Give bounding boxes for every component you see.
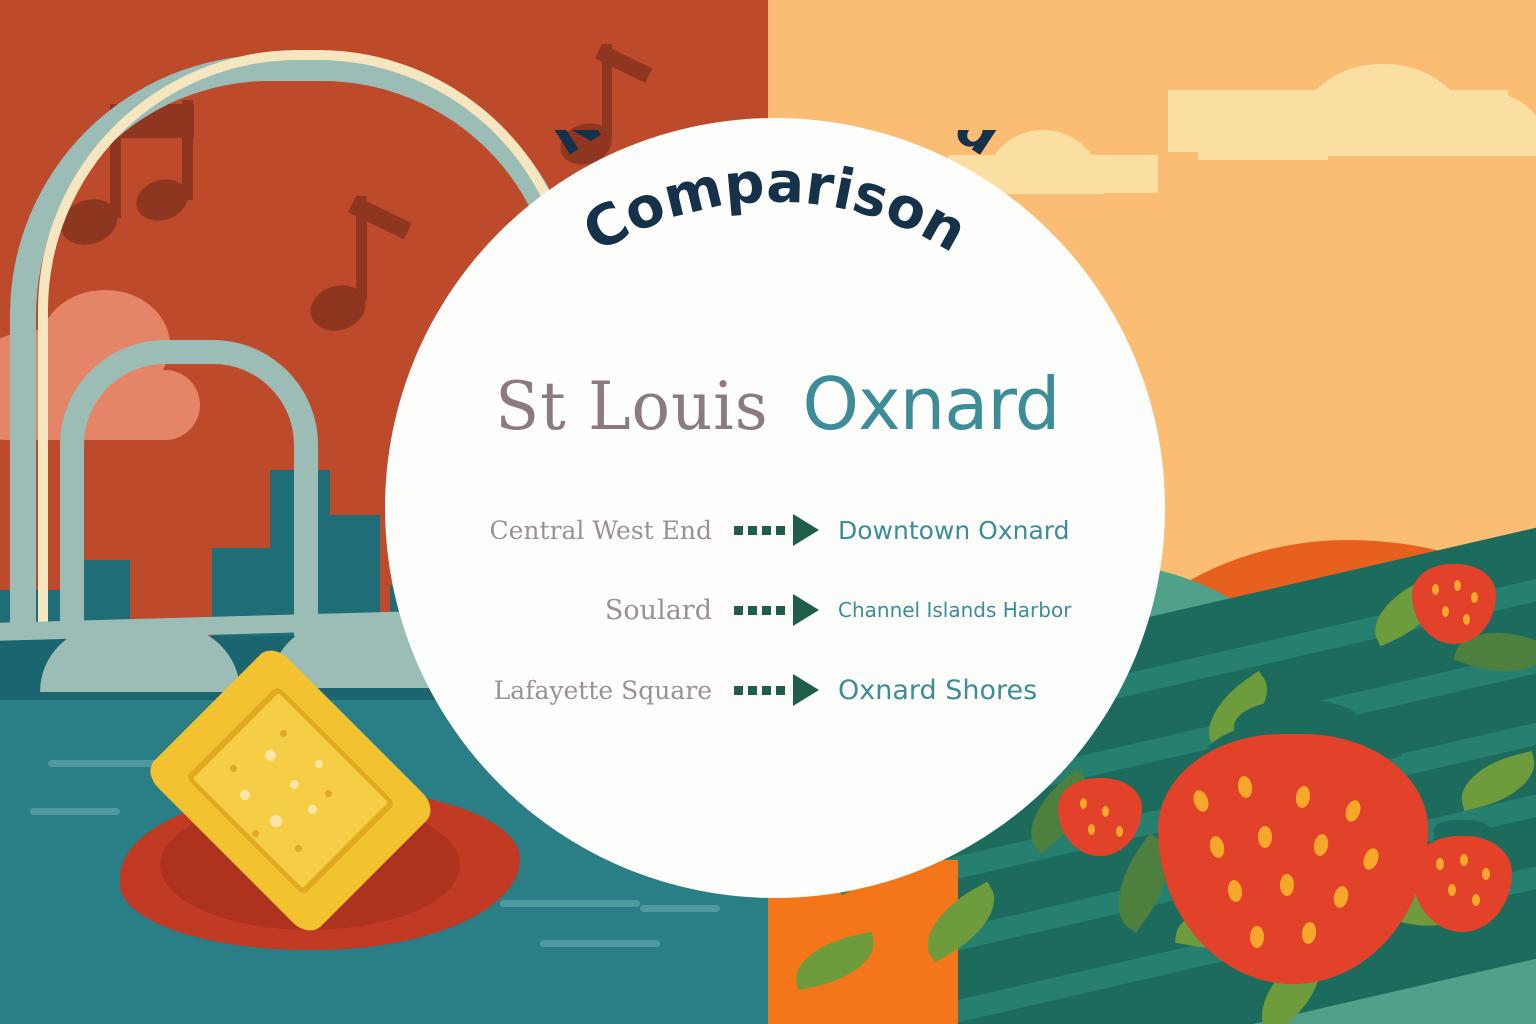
- neighborhood-left: Soulard: [382, 595, 730, 626]
- seed: [1471, 592, 1478, 603]
- page-title: Neighborhood Comparison: [385, 130, 1165, 380]
- seed: [1448, 884, 1456, 896]
- neighborhood-right: Oxnard Shores: [822, 675, 1168, 706]
- comparison-row: Lafayette Square Oxnard Shores: [385, 650, 1165, 730]
- crumb: [240, 790, 250, 800]
- title-line-2: Comparison: [573, 150, 978, 265]
- crumb: [295, 845, 302, 852]
- strawberry: [1408, 550, 1498, 650]
- strawberry-body: [1412, 564, 1496, 644]
- crumb: [270, 815, 282, 827]
- crumb: [280, 730, 287, 737]
- dotted-arrow-right-icon: [730, 594, 822, 626]
- wave-line: [540, 940, 660, 947]
- seed: [1472, 894, 1480, 906]
- comparison-graphic: Neighborhood Comparison St Louis Oxnard …: [0, 0, 1536, 1024]
- neighborhood-right: Channel Islands Harbor: [822, 598, 1168, 622]
- seed: [1116, 826, 1123, 837]
- strawberry-large: [1148, 700, 1448, 1020]
- seed: [1442, 606, 1449, 617]
- seed: [1432, 584, 1439, 595]
- city-name-right: Oxnard: [802, 362, 1059, 446]
- crumb: [290, 780, 299, 789]
- seed: [1102, 806, 1109, 817]
- wave-line: [30, 808, 120, 815]
- crumb: [265, 750, 276, 761]
- dotted-arrow-right-icon: [730, 514, 822, 546]
- seed: [1454, 580, 1461, 591]
- crumb: [308, 805, 317, 814]
- seed: [1460, 854, 1468, 866]
- neighborhood-right: Downtown Oxnard: [822, 516, 1168, 545]
- comparison-row: Central West End Downtown Oxnard: [385, 490, 1165, 570]
- neighborhood-left: Central West End: [382, 516, 730, 545]
- wave-line: [500, 900, 640, 907]
- seed: [1280, 874, 1294, 896]
- seed: [1258, 826, 1272, 848]
- comparison-row: Soulard Channel Islands Harbor: [385, 570, 1165, 650]
- seed: [1250, 926, 1264, 948]
- seed: [1463, 614, 1470, 625]
- dotted-arrow-right-icon: [730, 674, 822, 706]
- neighborhood-left: Lafayette Square: [382, 676, 730, 705]
- comparison-list: Central West End Downtown Oxnard Soulard…: [385, 490, 1165, 730]
- seed: [1080, 798, 1087, 809]
- city-name-left: St Louis: [495, 368, 768, 445]
- strawberry: [1058, 770, 1148, 866]
- crumb: [230, 765, 237, 772]
- strawberry-body: [1158, 734, 1428, 984]
- crumb: [252, 830, 259, 837]
- crumb: [325, 790, 332, 797]
- city-names: St Louis Oxnard: [385, 362, 1165, 446]
- seed: [1482, 868, 1490, 880]
- strawberry-body: [1058, 778, 1142, 856]
- seed: [1088, 824, 1095, 835]
- crumb: [315, 760, 323, 768]
- wave-line: [640, 905, 720, 912]
